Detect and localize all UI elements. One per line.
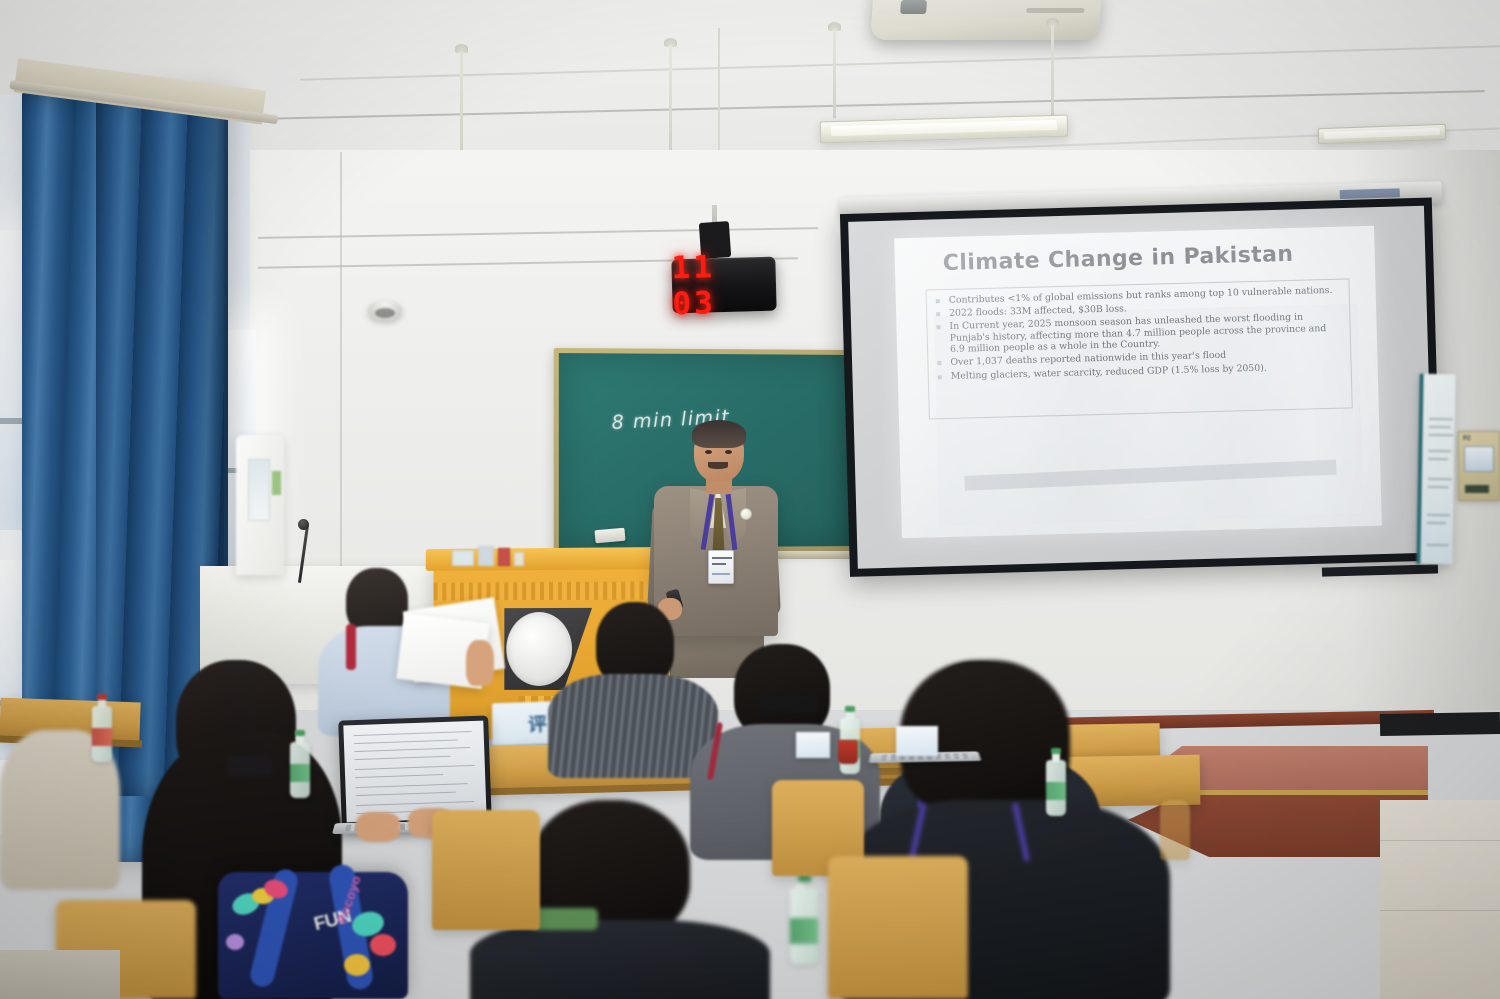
poster-text-line bbox=[1429, 434, 1454, 436]
student-glasses-icon bbox=[228, 756, 272, 776]
light-rod bbox=[833, 30, 836, 118]
document-text-line bbox=[354, 731, 472, 737]
laptop-screen bbox=[343, 721, 486, 823]
fluorescent-tube bbox=[1324, 128, 1440, 139]
dome-camera-icon bbox=[368, 300, 402, 320]
document-text-line bbox=[355, 783, 467, 788]
chalkboard-eraser[interactable] bbox=[594, 528, 625, 544]
bottle-cap bbox=[295, 730, 305, 736]
floor-tile-line bbox=[1380, 840, 1500, 841]
poster-text-line bbox=[1428, 486, 1449, 488]
document-text-line bbox=[355, 756, 451, 761]
classroom-scene: 11 03 8 min limit Climate Change in Paki… bbox=[0, 0, 1500, 999]
light-rod bbox=[1051, 26, 1054, 120]
lectern-trim bbox=[434, 581, 675, 600]
floor-tile-line bbox=[1380, 910, 1500, 911]
poster-text-line bbox=[1428, 458, 1448, 460]
presenter-mouth bbox=[708, 462, 728, 469]
fluorescent-tube bbox=[831, 120, 1057, 136]
wall-seam bbox=[340, 152, 342, 592]
floor bbox=[1380, 800, 1500, 999]
lectern-item-box bbox=[478, 546, 494, 566]
poster-text-line bbox=[1429, 418, 1453, 420]
presenter-badge bbox=[708, 550, 734, 584]
presenter-hair bbox=[692, 420, 746, 448]
wall-control-panel[interactable]: PZ bbox=[1458, 431, 1500, 501]
name-tent-card bbox=[896, 726, 938, 756]
paper-cup[interactable] bbox=[838, 740, 858, 764]
water-bottle[interactable] bbox=[1046, 760, 1066, 816]
student-glasses-icon bbox=[760, 696, 818, 712]
wall-baseboard bbox=[1380, 712, 1500, 736]
nameplate-char-left: 评 bbox=[528, 709, 548, 736]
student-hand bbox=[466, 640, 494, 686]
student-chair[interactable] bbox=[432, 810, 540, 930]
student-hand bbox=[356, 812, 400, 842]
student-torso bbox=[470, 920, 770, 999]
presenter-eye bbox=[725, 450, 732, 454]
digital-clock: 11 03 bbox=[671, 257, 776, 314]
poster-text-line bbox=[1428, 450, 1451, 452]
water-bottle[interactable] bbox=[92, 706, 112, 762]
dispenser-label bbox=[272, 471, 281, 495]
bottle-label bbox=[1046, 782, 1066, 800]
panel-indicator bbox=[1465, 485, 1489, 493]
document-text-line bbox=[356, 792, 456, 797]
poster-text-line bbox=[1428, 478, 1452, 480]
backpack-graphic bbox=[226, 934, 244, 950]
water-dispenser[interactable] bbox=[236, 435, 284, 575]
slide-bullet-list: Contributes <1% of global emissions but … bbox=[933, 285, 1345, 383]
bottle-cap bbox=[845, 706, 855, 712]
bottle-cap bbox=[1051, 748, 1061, 754]
lectern-items bbox=[452, 546, 540, 568]
microphone-icon[interactable] bbox=[298, 519, 309, 530]
ceiling-projector bbox=[870, 0, 1101, 40]
poster-text-line bbox=[1427, 544, 1449, 546]
lectern-item-box bbox=[514, 552, 524, 566]
screen-brand-logo bbox=[1340, 188, 1400, 199]
document-text-line bbox=[354, 747, 470, 752]
bottle-label bbox=[790, 918, 818, 944]
floor-foreground bbox=[0, 950, 120, 999]
slide-title: Climate Change in Pakistan bbox=[943, 242, 1294, 276]
student-chair[interactable] bbox=[828, 856, 968, 999]
panel-brand-label: PZ bbox=[1463, 436, 1471, 442]
presenter-lapel-pin-icon bbox=[740, 508, 752, 520]
clock-display: 11 03 bbox=[671, 248, 777, 323]
lectern-item-box bbox=[452, 550, 474, 566]
presenter-eye bbox=[705, 450, 712, 454]
badge-text-line bbox=[712, 573, 730, 575]
name-tent-card bbox=[796, 732, 830, 758]
document-text-line bbox=[355, 774, 443, 778]
student-backpack[interactable]: FUN Pocoyo bbox=[218, 872, 408, 999]
presentation-slide: Climate Change in Pakistan Contributes <… bbox=[894, 226, 1382, 538]
light-rod bbox=[669, 46, 672, 160]
bottle-cap bbox=[97, 694, 107, 700]
document-text-line bbox=[355, 765, 475, 771]
document-text-line bbox=[356, 801, 474, 807]
backpack-graphic bbox=[344, 954, 370, 976]
document-text-line bbox=[354, 739, 458, 744]
projector-vent bbox=[1026, 8, 1084, 13]
projector-lens-icon bbox=[900, 0, 927, 14]
panel-display bbox=[1464, 446, 1494, 472]
badge-text-line bbox=[712, 557, 732, 559]
poster-text-line bbox=[1427, 514, 1450, 516]
water-bottle[interactable] bbox=[290, 742, 310, 798]
lectern-item-box bbox=[498, 548, 510, 566]
poster-text-line bbox=[1427, 522, 1446, 524]
light-rod bbox=[460, 52, 463, 160]
backpack-graphic bbox=[370, 934, 396, 956]
student-collar bbox=[530, 908, 598, 930]
slide-content-box: Contributes <1% of global emissions but … bbox=[926, 278, 1353, 419]
poster-text-line bbox=[1429, 426, 1451, 428]
badge-text-line bbox=[712, 563, 726, 565]
student-chair[interactable] bbox=[1160, 800, 1190, 860]
water-bottle[interactable] bbox=[790, 888, 818, 964]
bottle-label bbox=[290, 764, 310, 782]
dispenser-window bbox=[248, 459, 270, 521]
wall-poster bbox=[1416, 374, 1455, 565]
bottle-label bbox=[92, 728, 112, 746]
